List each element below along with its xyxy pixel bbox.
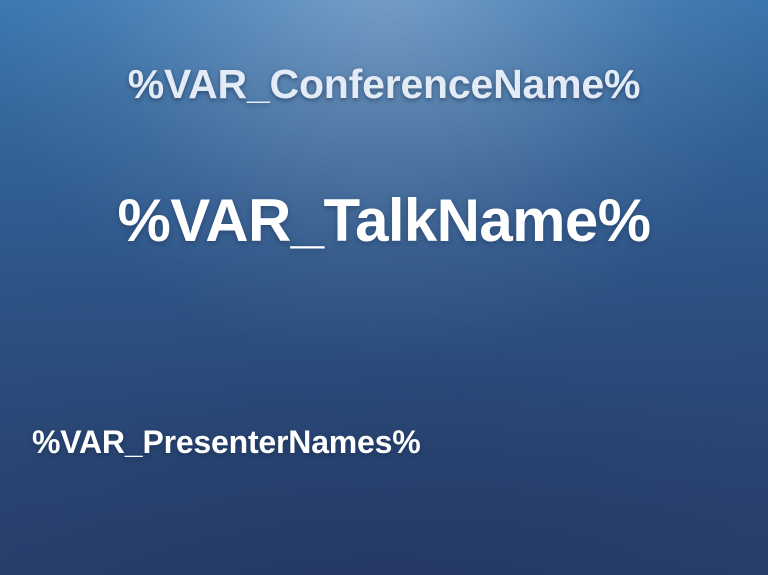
conference-name-text: %VAR_ConferenceName% bbox=[0, 60, 768, 108]
talk-name-text: %VAR_TalkName% bbox=[0, 186, 768, 256]
presenter-names-text: %VAR_PresenterNames% bbox=[32, 423, 421, 461]
title-slide: %VAR_ConferenceName% %VAR_TalkName% %VAR… bbox=[0, 0, 768, 575]
